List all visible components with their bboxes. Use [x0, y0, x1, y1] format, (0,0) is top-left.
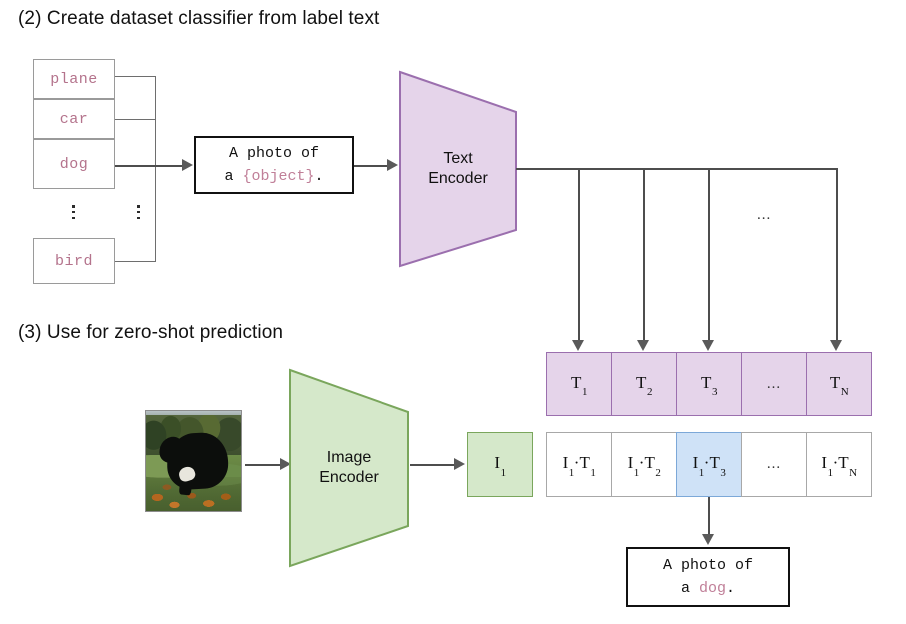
text-embedding-cell-2[interactable]: T2: [611, 352, 677, 416]
figure-canvas: (2) Create dataset classifier from label…: [0, 0, 906, 624]
text-encoder-label-line1: Text: [428, 149, 488, 169]
image-encoder[interactable]: Image Encoder: [288, 368, 410, 568]
prompt-line-2-prefix: a: [224, 168, 242, 185]
label-text-car: car: [60, 111, 89, 128]
bus-drop-n: [836, 168, 838, 341]
similarity-cell-1-label: I1·T1: [563, 453, 596, 475]
input-photo[interactable]: [145, 410, 242, 512]
prediction-line-2: a dog.: [681, 577, 735, 600]
text-embedding-cell-n-label: TN: [830, 373, 848, 395]
prompt-slot-object: {object}: [242, 168, 314, 185]
image-embedding-label: I1: [494, 453, 505, 475]
label-column-ellipsis-icon: [72, 205, 75, 219]
similarity-cell-1[interactable]: I1·T1: [546, 432, 612, 497]
label-box-dog[interactable]: dog: [33, 139, 115, 189]
section-2-title: (2) Create dataset classifier from label…: [18, 8, 379, 30]
text-embedding-cell-ellipsis: ...: [741, 352, 807, 416]
bus-drop-arrow-2-icon: [637, 340, 649, 351]
prompt-line-1: A photo of: [229, 142, 319, 165]
text-encoder-label-line2: Encoder: [428, 169, 488, 189]
label-box-car[interactable]: car: [33, 99, 115, 139]
text-encoder-output-bus: [516, 168, 836, 170]
similarity-cell-n-label: I1·TN: [821, 453, 856, 475]
bus-stub-bird: [115, 261, 156, 262]
image-encoder-label-line2: Encoder: [319, 468, 379, 488]
label-bus-line: [155, 76, 156, 262]
text-embedding-cell-2-label: T2: [636, 373, 652, 395]
bus-drop-arrow-1-icon: [572, 340, 584, 351]
prompt-line-2-suffix: .: [315, 168, 324, 185]
similarity-ellipsis-label: ...: [767, 456, 781, 473]
label-text-bird: bird: [55, 253, 93, 270]
bus-to-prompt-arrow-icon: [182, 159, 193, 171]
text-encoder-label: Text Encoder: [428, 149, 488, 189]
photo-to-image-encoder-line: [245, 464, 281, 466]
similarity-cell-ellipsis: ...: [741, 432, 807, 497]
image-encoder-label: Image Encoder: [319, 448, 379, 488]
label-text-plane: plane: [50, 71, 98, 88]
similarity-cell-3-selected[interactable]: I1·T3: [676, 432, 742, 497]
label-box-plane[interactable]: plane: [33, 59, 115, 99]
bus-drop-3: [708, 168, 710, 341]
similarity-cell-2[interactable]: I1·T2: [611, 432, 677, 497]
text-embedding-cell-1[interactable]: T1: [546, 352, 612, 416]
image-embedding-cell[interactable]: I1: [467, 432, 533, 497]
similarity-cell-n[interactable]: I1·TN: [806, 432, 872, 497]
similarity-cell-3-label: I1·T3: [693, 453, 726, 475]
image-encoder-to-embedding-line: [410, 464, 455, 466]
bus-column-ellipsis-icon: [137, 205, 140, 219]
label-text-dog: dog: [60, 156, 89, 173]
bus-stub-plane: [115, 76, 156, 77]
bus-stub-car: [115, 119, 156, 120]
prediction-drop-line: [708, 497, 710, 535]
prompt-line-2: a {object}.: [224, 165, 323, 188]
prediction-slot-dog: dog: [699, 580, 726, 597]
text-embedding-cell-3-label: T3: [701, 373, 717, 395]
prompt-template-box[interactable]: A photo of a {object}.: [194, 136, 354, 194]
prompt-to-text-encoder-arrow-icon: [387, 159, 398, 171]
bus-drop-arrow-3-icon: [702, 340, 714, 351]
bus-drop-arrow-n-icon: [830, 340, 842, 351]
prediction-line-2-suffix: .: [726, 580, 735, 597]
similarity-cell-2-label: I1·T2: [628, 453, 661, 475]
text-embedding-cell-n[interactable]: TN: [806, 352, 872, 416]
prediction-line-1: A photo of: [663, 554, 753, 577]
bus-drop-1: [578, 168, 580, 341]
label-box-bird[interactable]: bird: [33, 238, 115, 284]
text-encoder[interactable]: Text Encoder: [398, 70, 518, 268]
bus-to-prompt-line: [115, 165, 183, 167]
text-embedding-cell-3[interactable]: T3: [676, 352, 742, 416]
prediction-line-2-prefix: a: [681, 580, 699, 597]
prompt-to-text-encoder-line: [354, 165, 388, 167]
image-encoder-label-line1: Image: [319, 448, 379, 468]
bus-ellipsis: ...: [757, 207, 771, 224]
image-encoder-to-embedding-arrow-icon: [454, 458, 465, 470]
prediction-box[interactable]: A photo of a dog.: [626, 547, 790, 607]
section-3-title: (3) Use for zero-shot prediction: [18, 322, 283, 344]
bus-drop-2: [643, 168, 645, 341]
prediction-drop-arrow-icon: [702, 534, 714, 545]
text-embedding-ellipsis-label: ...: [767, 376, 781, 393]
text-embedding-cell-1-label: T1: [571, 373, 587, 395]
